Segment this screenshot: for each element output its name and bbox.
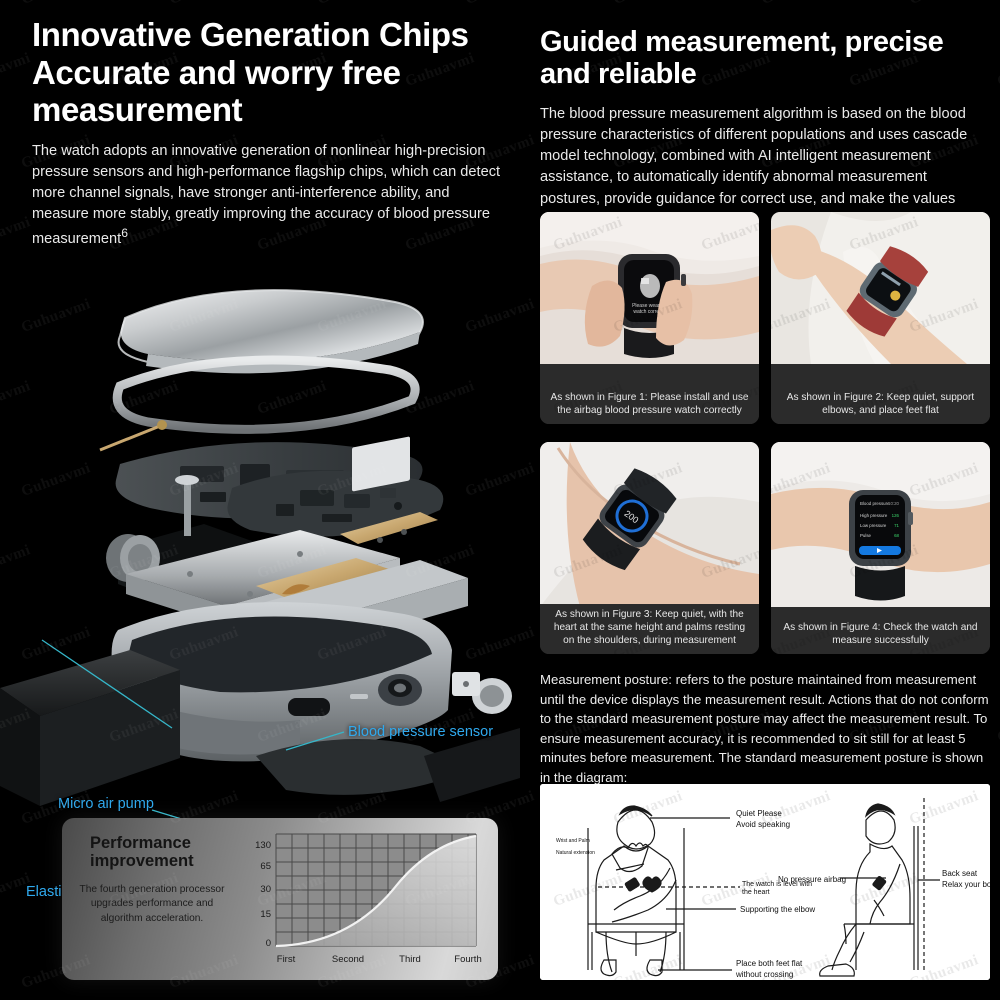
figure-1-caption: As shown in Figure 1: Please install and… [540,387,759,424]
left-intro-block: Innovative Generation Chips Accurate and… [32,16,510,250]
performance-chart: 130 65 30 15 0 First Second Third Fourth [230,828,482,970]
posture-label-wrist-palm: Wrist and Palm [556,838,590,844]
chart-x-axis: First Second Third Fourth [277,954,482,965]
performance-text-block: Performance improvement The fourth gener… [76,834,228,926]
svg-text:68: 68 [894,533,899,538]
performance-chart-svg: 130 65 30 15 0 First Second Third Fourth [230,828,482,970]
right-column: Guided measurement, precise and reliable… [522,0,1000,1000]
figure-4-caption: As shown in Figure 4: Check the watch an… [771,617,990,654]
right-heading: Guided measurement, precise and reliable [540,26,988,91]
svg-text:Low pressure: Low pressure [860,523,887,528]
figure-1-photo: Please wear the watch correctly [540,212,759,364]
posture-label-quiet: Quiet Please [736,809,782,818]
callout-blood-pressure-sensor: Blood pressure sensor [348,724,493,740]
figure-3-photo: 200 [540,442,759,607]
ytick-0: 0 [266,938,271,949]
ytick-15: 15 [260,909,271,920]
left-body-footnote-marker: 6 [121,226,128,240]
posture-label-no-airbag: No pressure airbag [778,875,846,884]
posture-diagram: Quiet Please Avoid speaking Wrist and Pa… [540,784,990,980]
measurement-posture-note: Measurement posture: refers to the postu… [540,670,992,787]
crown-button [452,672,512,714]
posture-label-level-line2: the heart [742,889,770,896]
performance-improvement-card: Performance improvement The fourth gener… [62,818,498,980]
figure-card-4: Blood pressure 10:20 High pressure126 Lo… [771,442,990,654]
ytick-130: 130 [255,840,271,851]
left-body-text: The watch adopts an innovative generatio… [32,141,510,251]
callout-micro-air-pump: Micro air pump [58,796,154,812]
posture-label-back-line2: Relax your body [942,880,990,889]
chart-y-axis: 130 65 30 15 0 [255,840,271,949]
posture-label-elbow: Supporting the elbow [740,905,815,914]
left-heading: Innovative Generation Chips Accurate and… [32,16,510,129]
posture-label-avoid: Avoid speaking [736,820,790,829]
svg-text:Blood pressure: Blood pressure [860,501,890,506]
performance-title: Performance improvement [76,834,228,871]
ytick-65: 65 [260,861,271,872]
posture-label-back-line1: Back seat [942,869,978,878]
figure-card-3: 200 As shown in Figure 3: Keep quiet, wi… [540,442,759,654]
left-body-copy: The watch adopts an innovative generatio… [32,143,500,247]
ytick-30: 30 [260,884,271,895]
figure-2-photo [771,212,990,364]
svg-text:71: 71 [894,523,899,528]
product-infographic-page: Innovative Generation Chips Accurate and… [0,0,1000,1000]
figure-card-1: Please wear the watch correctly As shown… [540,212,759,424]
figure-2-caption: As shown in Figure 2: Keep quiet, suppor… [771,387,990,424]
exploded-watch-illustration: Blood pressure sensor Micro air pump Ela… [0,258,520,818]
watch-bezel-ring [100,360,415,450]
posture-label-feet-line2: without crossing [735,970,793,979]
performance-description: The fourth generation processor upgrades… [76,883,228,926]
posture-label-natural-extension: Natural extension [556,850,595,856]
svg-text:10:20: 10:20 [888,501,900,506]
xtick-first: First [277,954,296,965]
figure-grid: Please wear the watch correctly As shown… [540,212,990,654]
xtick-fourth: Fourth [454,954,481,965]
right-intro-block: Guided measurement, precise and reliable… [540,26,988,231]
svg-text:126: 126 [892,513,900,518]
figure-3-caption: As shown in Figure 3: Keep quiet, with t… [540,604,759,654]
measurement-posture-note-text: Measurement posture: refers to the postu… [540,670,992,787]
left-column: Innovative Generation Chips Accurate and… [0,0,520,1000]
xtick-second: Second [332,954,364,965]
xtick-third: Third [399,954,421,965]
svg-text:Pulse: Pulse [860,533,872,538]
posture-diagram-svg: Quiet Please Avoid speaking Wrist and Pa… [540,784,990,980]
posture-label-feet-line1: Place both feet flat [736,959,803,968]
svg-text:High pressure: High pressure [860,513,888,518]
figure-4-photo: Blood pressure 10:20 High pressure126 Lo… [771,442,990,607]
figure-card-2: As shown in Figure 2: Keep quiet, suppor… [771,212,990,424]
